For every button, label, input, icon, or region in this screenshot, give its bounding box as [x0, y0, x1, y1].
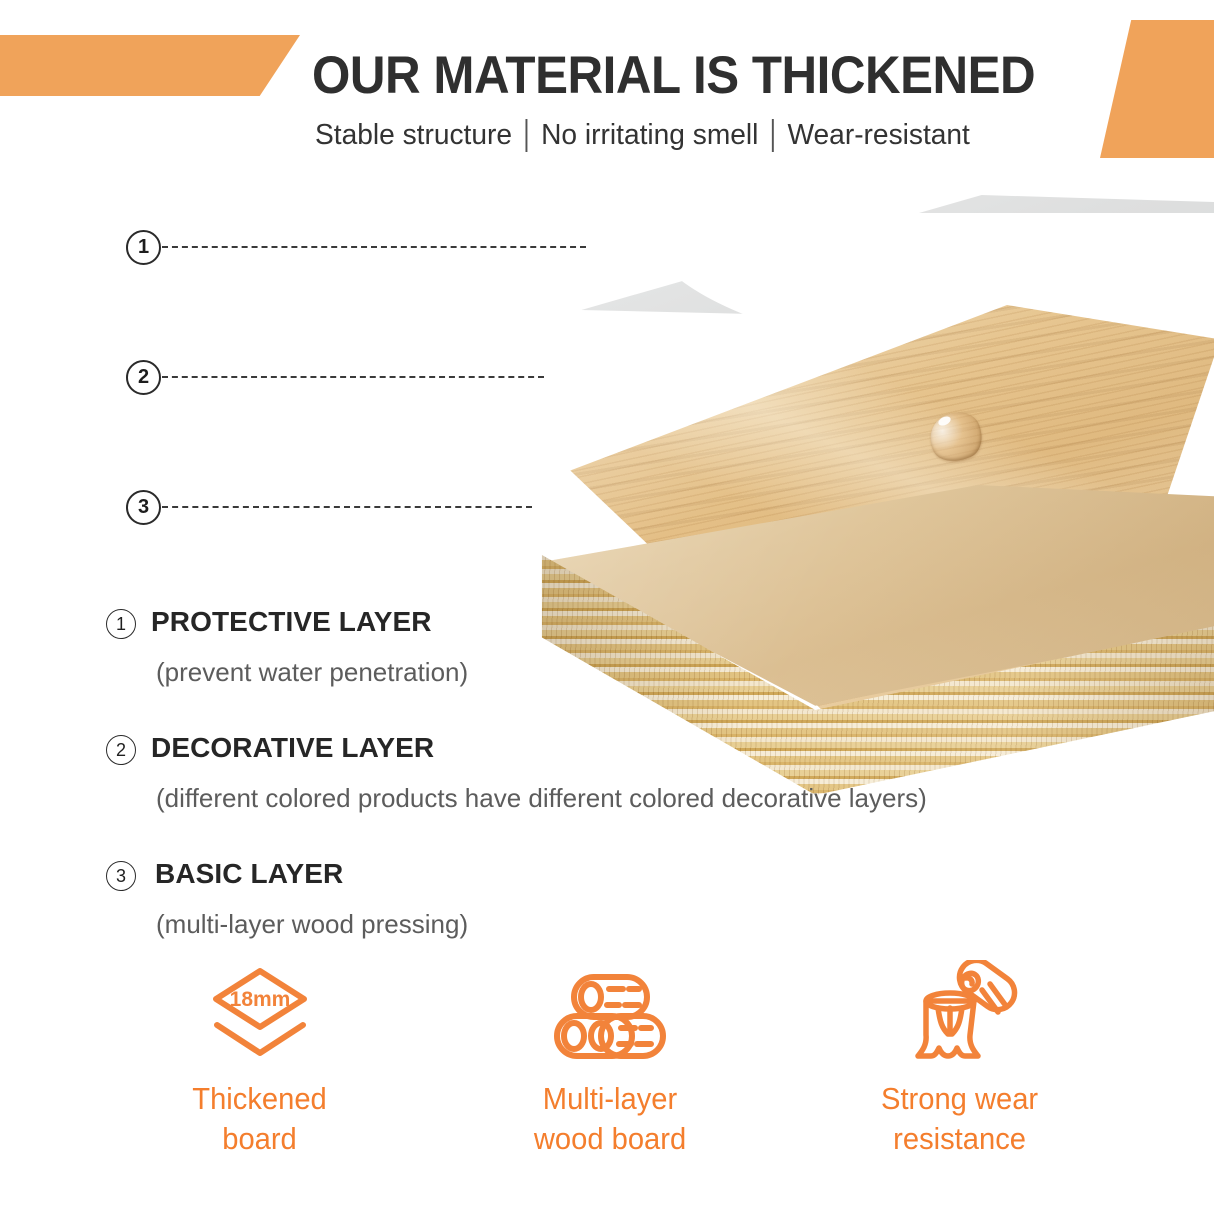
feature-3-label-line1: Strong wear: [881, 1079, 1038, 1119]
feature-1-label-line1: Thickened: [193, 1079, 327, 1119]
feature-multi-layer-wood-board: Multi-layer wood board: [460, 960, 760, 1170]
callout-3-leader-line: [162, 506, 532, 508]
feature-2-label-line2: wood board: [534, 1119, 686, 1159]
feature-1-label: Thickened board: [193, 1079, 327, 1159]
layered-diamond-icon: 18mm: [208, 960, 312, 1065]
legend-item-decorative-layer: 2 DECORATIVE LAYER: [106, 732, 1006, 765]
callout-1-number: 1: [126, 230, 161, 265]
stacked-logs-icon: [549, 960, 671, 1065]
feature-3-label-line2: resistance: [881, 1119, 1038, 1159]
page-title: OUR MATERIAL IS THICKENED: [312, 47, 1056, 105]
callout-2-leader-line: [162, 376, 544, 378]
legend-item-1-number: 1: [106, 609, 136, 639]
feature-2-label: Multi-layer wood board: [534, 1079, 686, 1159]
legend-list: 1 PROTECTIVE LAYER (prevent water penetr…: [106, 606, 1006, 940]
feature-1-label-line2: board: [193, 1119, 327, 1159]
callout-1: 1: [126, 230, 586, 264]
feature-thickened-board: 18mm Thickened board: [110, 960, 410, 1170]
header-accent-shape-left: [0, 35, 300, 96]
header-subtitle: Stable structure No irritating smell Wea…: [315, 118, 1091, 152]
callout-2-number: 2: [126, 360, 161, 395]
legend-item-protective-layer: 1 PROTECTIVE LAYER: [106, 606, 1006, 639]
legend-item-2-title: DECORATIVE LAYER: [151, 732, 434, 764]
legend-item-1-title: PROTECTIVE LAYER: [151, 606, 432, 638]
infographic-page: OUR MATERIAL IS THICKENED Stable structu…: [0, 0, 1214, 1214]
header-accent-shape-right: [1100, 20, 1214, 158]
subtitle-part-1: Stable structure: [315, 118, 526, 152]
legend-item-2-note: (different colored products have differe…: [156, 783, 1006, 814]
legend-item-1-note: (prevent water penetration): [156, 657, 1006, 688]
subtitle-part-3: Wear-resistant: [774, 118, 984, 152]
layered-diamond-icon-text: 18mm: [230, 988, 291, 1011]
callout-3: 3: [126, 490, 532, 524]
callout-1-leader-line: [162, 246, 586, 248]
feature-2-label-line1: Multi-layer: [534, 1079, 686, 1119]
legend-item-3-note: (multi-layer wood pressing): [156, 909, 1006, 940]
feature-3-label: Strong wear resistance: [881, 1079, 1038, 1159]
feature-strong-wear-resistance: Strong wear resistance: [810, 960, 1110, 1170]
legend-item-2-number: 2: [106, 735, 136, 765]
feature-list: 18mm Thickened board: [110, 960, 1110, 1170]
callout-2: 2: [126, 360, 544, 394]
legend-item-basic-layer: 3 BASIC LAYER: [106, 858, 1006, 891]
legend-item-3-title: BASIC LAYER: [155, 858, 343, 890]
callout-3-number: 3: [126, 490, 161, 525]
tree-stump-log-icon: [900, 960, 1020, 1065]
legend-item-3-number: 3: [106, 861, 136, 891]
subtitle-part-2: No irritating smell: [528, 118, 772, 152]
